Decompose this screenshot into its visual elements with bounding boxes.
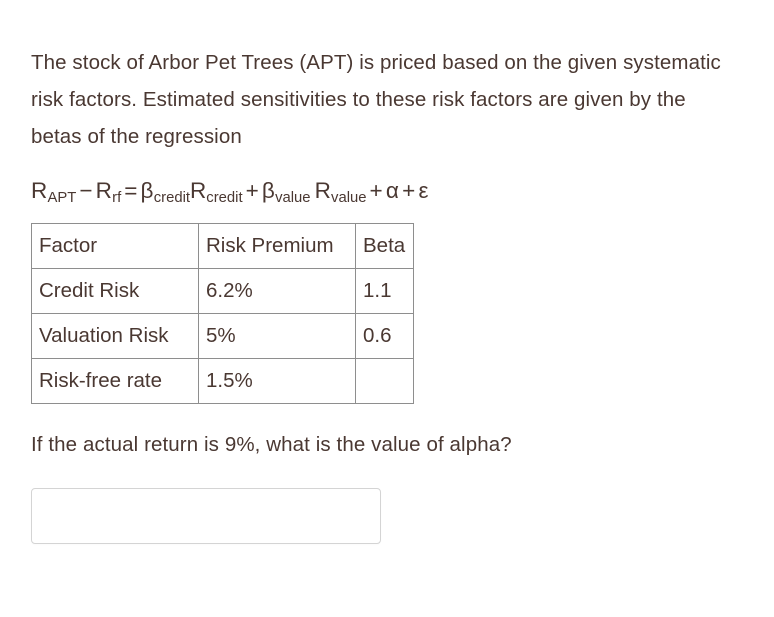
table-header-row: Factor Risk Premium Beta <box>32 224 414 269</box>
formula-rf-variable: R <box>96 178 112 203</box>
problem-statement: The stock of Arbor Pet Trees (APT) is pr… <box>31 44 731 155</box>
formula-beta-value: β <box>262 178 275 203</box>
formula-equals-operator: = <box>121 178 140 203</box>
formula-plus-operator-1: + <box>243 178 262 203</box>
cell-risk-premium: 6.2% <box>199 269 356 314</box>
formula-plus-operator-3: + <box>399 178 418 203</box>
formula-lhs-subscript: APT <box>47 190 76 206</box>
formula-rf-subscript: rf <box>112 190 121 206</box>
question-page: The stock of Arbor Pet Trees (APT) is pr… <box>0 0 774 617</box>
cell-factor-name: Credit Risk <box>32 269 199 314</box>
question-text: If the actual return is 9%, what is the … <box>31 428 743 462</box>
formula-r-credit: R <box>190 178 206 203</box>
formula-alpha-symbol: α <box>386 178 399 203</box>
regression-formula: RAPT−Rrf=βcreditRcredit+βvalueRvalue+α+ε <box>31 177 743 205</box>
answer-area <box>31 488 743 544</box>
cell-beta <box>356 359 414 404</box>
table-row: Valuation Risk 5% 0.6 <box>32 314 414 359</box>
cell-risk-premium: 5% <box>199 314 356 359</box>
factor-table: Factor Risk Premium Beta Credit Risk 6.2… <box>31 223 414 404</box>
answer-input[interactable] <box>31 488 381 544</box>
formula-lhs-variable: R <box>31 178 47 203</box>
table-header-factor: Factor <box>32 224 199 269</box>
cell-beta: 0.6 <box>356 314 414 359</box>
formula-beta-value-subscript: value <box>275 190 311 206</box>
formula-beta-credit: β <box>141 178 154 203</box>
table-row: Risk-free rate 1.5% <box>32 359 414 404</box>
table-header-risk-premium: Risk Premium <box>199 224 356 269</box>
formula-epsilon-symbol: ε <box>418 178 428 203</box>
formula-beta-credit-subscript: credit <box>154 190 190 206</box>
table-row: Credit Risk 6.2% 1.1 <box>32 269 414 314</box>
formula-plus-operator-2: + <box>367 178 386 203</box>
formula-r-value-subscript: value <box>331 190 367 206</box>
cell-factor-name: Risk-free rate <box>32 359 199 404</box>
question-content: The stock of Arbor Pet Trees (APT) is pr… <box>31 44 743 544</box>
table-header-beta: Beta <box>356 224 414 269</box>
cell-factor-name: Valuation Risk <box>32 314 199 359</box>
formula-minus-operator: − <box>76 178 95 203</box>
cell-risk-premium: 1.5% <box>199 359 356 404</box>
formula-r-credit-subscript: credit <box>206 190 242 206</box>
cell-beta: 1.1 <box>356 269 414 314</box>
formula-r-value: R <box>315 178 331 203</box>
